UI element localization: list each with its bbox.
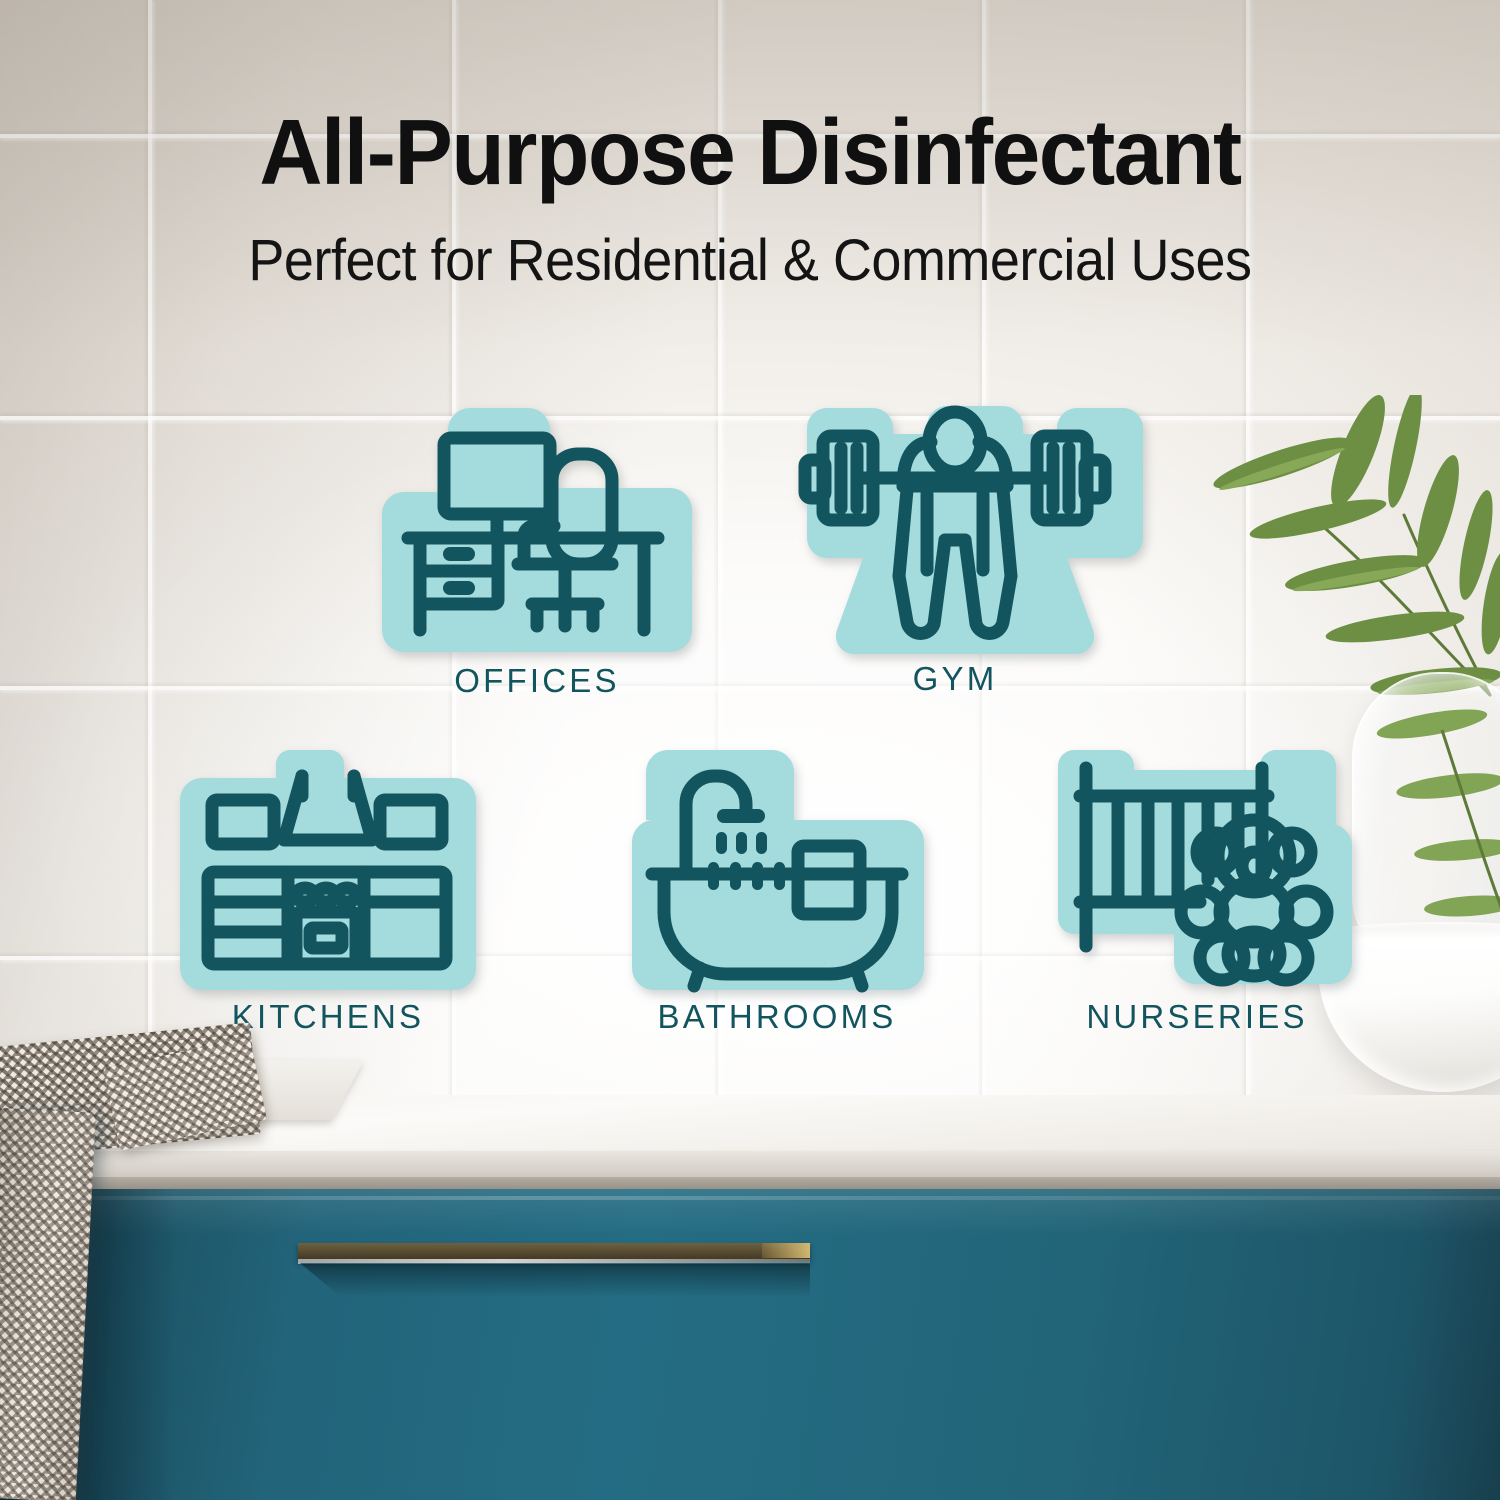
drawer-pull-glint <box>762 1243 810 1258</box>
product-feature-image: All-Purpose Disinfectant Perfect for Res… <box>0 0 1500 1500</box>
use-case-label-bathrooms: BATHROOMS <box>630 998 924 1036</box>
use-case-bathrooms[interactable]: BATHROOMS <box>630 740 924 990</box>
kitchen-cabinet <box>0 1189 1500 1500</box>
use-case-label-nurseries: NURSERIES <box>1050 998 1344 1036</box>
page-title: All-Purpose Disinfectant <box>45 106 1455 199</box>
use-case-nurseries[interactable]: NURSERIES <box>1050 740 1344 990</box>
cabinet-drawer-seam <box>86 1196 1500 1200</box>
use-case-gym[interactable]: GYM <box>795 390 1115 652</box>
page-subtitle: Perfect for Residential & Commercial Use… <box>53 232 1448 290</box>
drawer-pull-shadow <box>300 1263 810 1297</box>
use-case-label-gym: GYM <box>795 660 1115 698</box>
use-case-kitchens[interactable]: KITCHENS <box>178 740 478 990</box>
use-case-label-offices: OFFICES <box>372 662 702 700</box>
olive-branch-in-vase <box>1372 690 1500 940</box>
use-case-offices[interactable]: OFFICES <box>372 398 702 653</box>
